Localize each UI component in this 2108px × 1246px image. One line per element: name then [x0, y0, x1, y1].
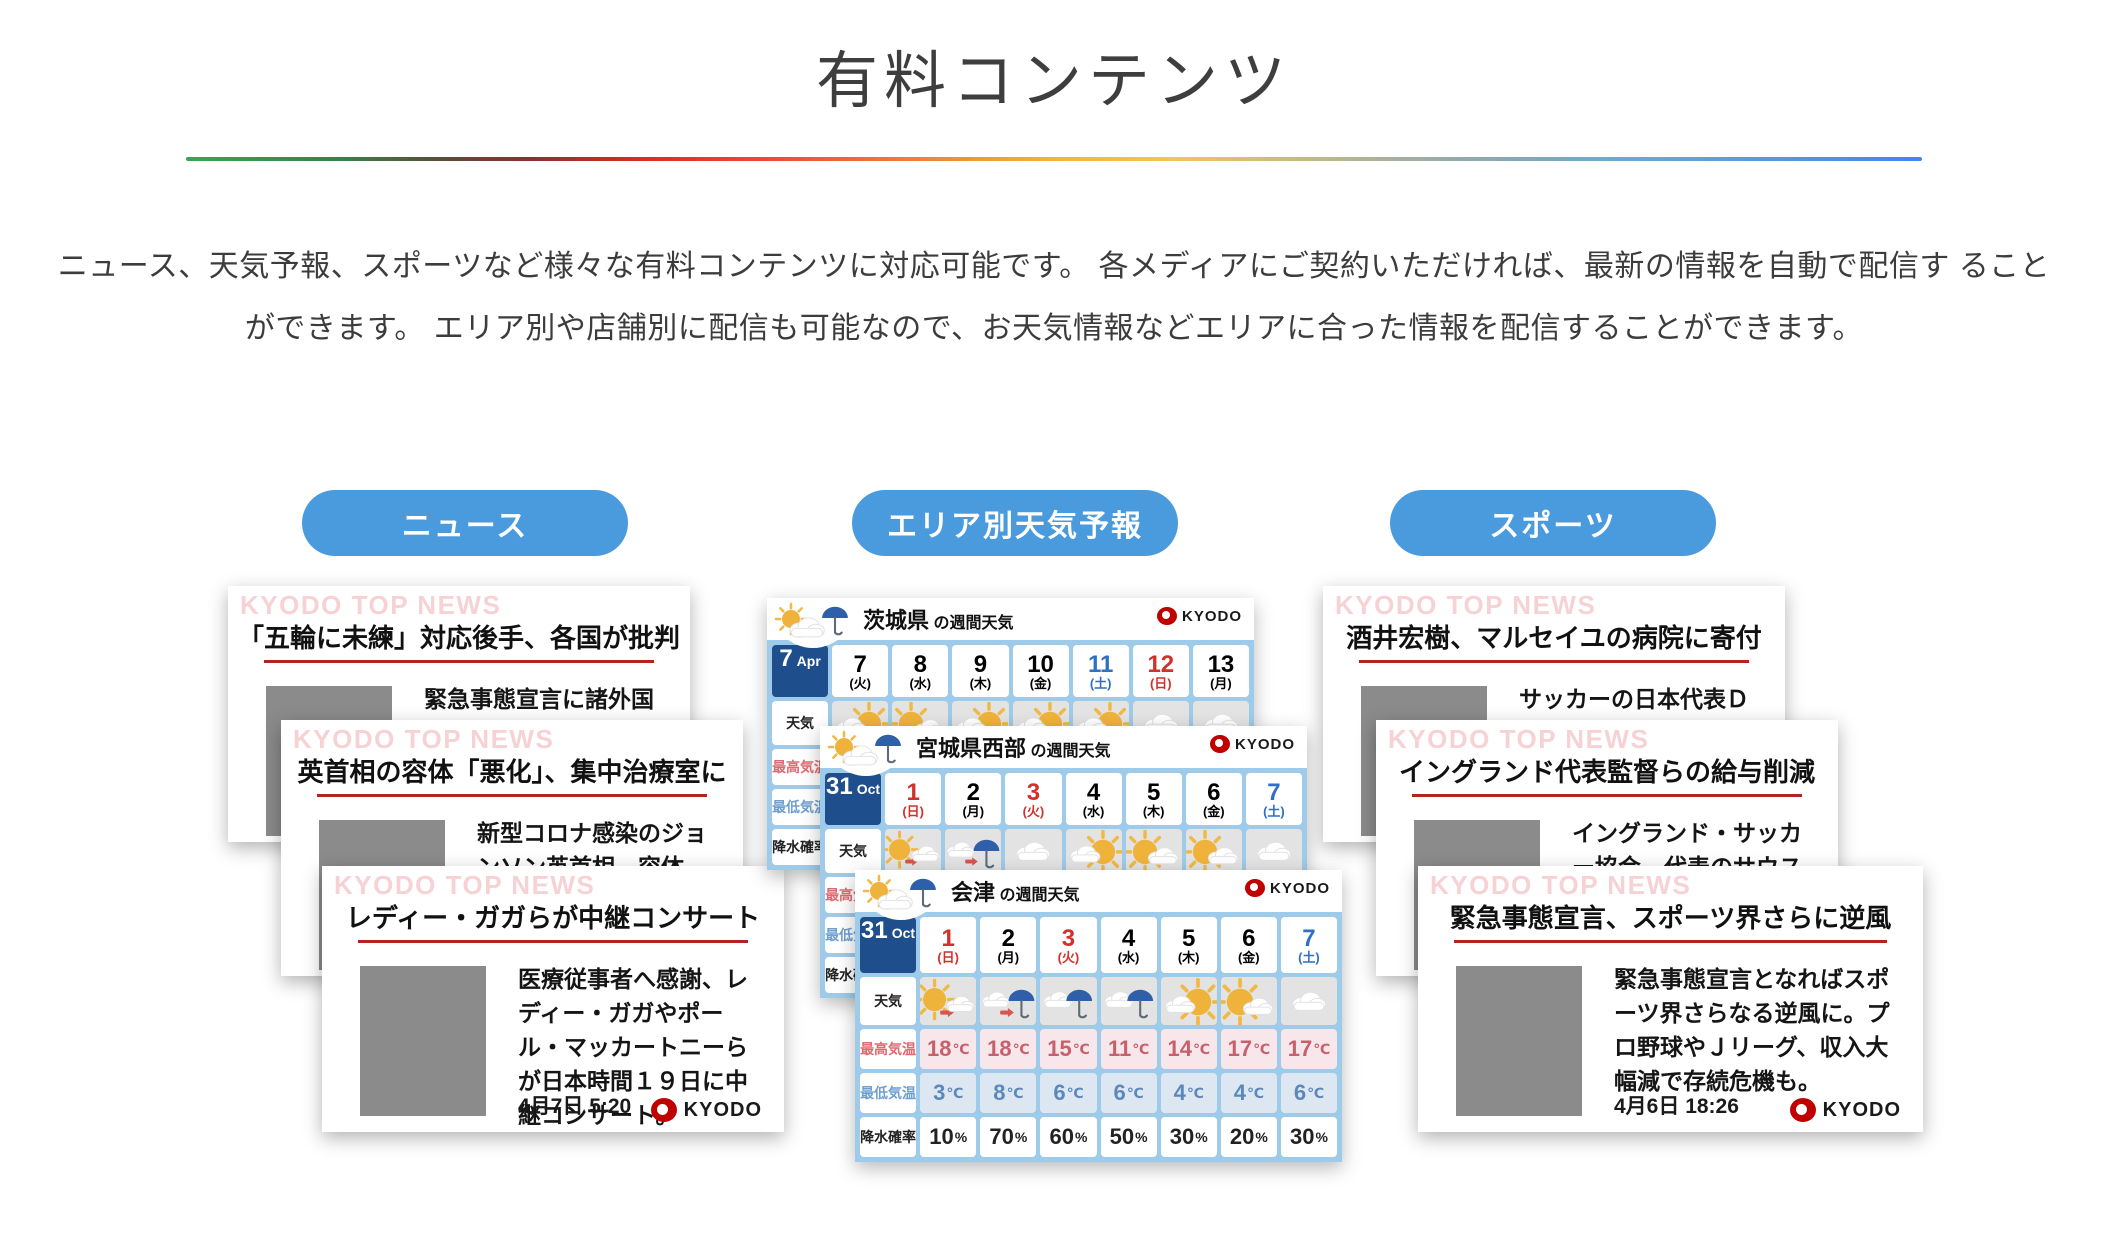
weather-day-header: 6(金) [1186, 773, 1242, 825]
weather-day-weekday: (月) [997, 951, 1019, 965]
kyodo-logo: KYODO [1210, 735, 1295, 753]
weather-condition-icon [1246, 829, 1302, 873]
kyodo-logo-text: KYODO [684, 1099, 762, 1122]
weather-day-column: 5(木)14℃4℃30% [1161, 917, 1217, 1157]
weather-day-weekday: (火) [849, 677, 871, 691]
weather-day-number: 6 [1242, 926, 1255, 951]
weather-min-temp: 4℃ [1161, 1073, 1217, 1113]
weather-condition-icon [920, 977, 976, 1025]
weather-min-temp: 3℃ [920, 1073, 976, 1113]
weather-day-header: 2(月) [945, 773, 1001, 825]
kyodo-top-news-label: KYODO TOP NEWS [1388, 724, 1649, 755]
weather-area-title: 宮城県西部 の週間天気 [916, 731, 1110, 763]
weather-day-weekday: (土) [1090, 677, 1112, 691]
weather-day-weekday: (金) [1030, 677, 1052, 691]
weather-day-number: 9 [974, 652, 987, 677]
weather-day-number: 1 [942, 926, 955, 951]
weather-condition-icon [1005, 829, 1061, 873]
news-headline: レディー・ガガらが中継コンサート [322, 898, 784, 935]
weather-day-number: 2 [967, 780, 980, 805]
weather-day-number: 3 [1027, 780, 1040, 805]
kyodo-mark-icon [1157, 607, 1177, 625]
kyodo-logo: KYODO [651, 1098, 762, 1122]
weather-day-weekday: (日) [1150, 677, 1172, 691]
weather-day-header: 1(日) [885, 773, 941, 825]
row-label-max-temp: 最高気温 [860, 1029, 916, 1069]
kyodo-logo: KYODO [1245, 879, 1330, 897]
weather-date-day: 7 [779, 645, 792, 673]
weather-day-weekday: (木) [970, 677, 992, 691]
weather-day-header: 4(水) [1066, 773, 1122, 825]
weather-day-column: 3(火)15℃6℃60% [1040, 917, 1096, 1157]
weather-area-title: 茨城県 の週間天気 [863, 603, 1013, 635]
headline-rule [317, 794, 707, 797]
weather-date-badge: 7Apr [772, 645, 828, 697]
intro-paragraph: ニュース、天気予報、スポーツなど様々な有料コンテンツに対応可能です。 各メディア… [44, 236, 2064, 360]
weather-day-column: 7(土)17℃6℃30% [1281, 917, 1337, 1157]
row-label-weather: 天気 [860, 977, 916, 1025]
weather-day-header: 5(木) [1126, 773, 1182, 825]
news-thumbnail [1456, 966, 1582, 1116]
weather-day-header: 7(土) [1246, 773, 1302, 825]
weather-card-header: 会津 の週間天気KYODO [855, 870, 1342, 912]
weather-day-column: 6(金)17℃4℃20% [1221, 917, 1277, 1157]
weather-date-day: 31 [826, 773, 853, 801]
headline-rule [264, 660, 654, 663]
weather-date-badge: 31Oct [825, 773, 881, 825]
weather-precipitation: 10% [920, 1117, 976, 1157]
weather-day-header: 1(日) [920, 917, 976, 973]
weather-day-weekday: (木) [1143, 805, 1165, 819]
headline-rule [1412, 794, 1802, 797]
weather-day-weekday: (木) [1178, 951, 1200, 965]
headline-rule [358, 940, 748, 943]
weather-title-suffix: の週間天気 [1026, 743, 1110, 760]
weather-max-temp: 15℃ [1040, 1029, 1096, 1069]
weather-day-number: 1 [907, 780, 920, 805]
news-headline: 酒井宏樹、マルセイユの病院に寄付 [1323, 618, 1785, 655]
news-timestamp: 4月6日 18:26 [1614, 1090, 1739, 1120]
weather-day-weekday: (火) [1023, 805, 1045, 819]
news-thumbnail [360, 966, 486, 1116]
news-card[interactable]: KYODO TOP NEWSレディー・ガガらが中継コンサート医療従事者へ感謝、レ… [322, 866, 784, 1132]
weather-condition-icon [885, 829, 941, 873]
slide-root: 有料コンテンツ ニュース、天気予報、スポーツなど様々な有料コンテンツに対応可能で… [0, 0, 2108, 1246]
weather-summary-icon [771, 600, 855, 648]
kyodo-logo-text: KYODO [1235, 736, 1295, 753]
weather-day-header: 7(土) [1281, 917, 1337, 973]
weather-day-header: 7(火) [832, 645, 888, 697]
weather-date-month: Oct [892, 925, 915, 941]
weather-condition-icon [1186, 829, 1242, 873]
weather-day-weekday: (水) [1118, 951, 1140, 965]
weather-day-header: 10(金) [1013, 645, 1069, 697]
weather-day-number: 5 [1147, 780, 1160, 805]
weather-card-header: 茨城県 の週間天気KYODO [767, 598, 1254, 640]
weather-day-weekday: (日) [937, 951, 959, 965]
section-button-news[interactable]: ニュース [302, 490, 628, 556]
weather-day-number: 10 [1027, 652, 1054, 677]
kyodo-top-news-label: KYODO TOP NEWS [293, 724, 554, 755]
kyodo-top-news-label: KYODO TOP NEWS [1335, 590, 1596, 621]
weather-day-weekday: (金) [1238, 951, 1260, 965]
row-label-weather: 天気 [825, 829, 881, 873]
weather-day-column: 1(日)18℃3℃10% [920, 917, 976, 1157]
weather-min-temp: 6℃ [1281, 1073, 1337, 1113]
kyodo-top-news-label: KYODO TOP NEWS [1430, 870, 1691, 901]
weather-card-header: 宮城県西部 の週間天気KYODO [820, 726, 1307, 768]
weather-row-labels: 31Oct天気最高気温最低気温降水確率 [860, 917, 916, 1157]
weather-min-temp: 4℃ [1221, 1073, 1277, 1113]
weather-day-weekday: (月) [1210, 677, 1232, 691]
weather-day-number: 7 [1267, 780, 1280, 805]
weather-min-temp: 6℃ [1040, 1073, 1096, 1113]
news-headline: 英首相の容体「悪化」、集中治療室に [281, 752, 743, 789]
kyodo-top-news-label: KYODO TOP NEWS [334, 870, 595, 901]
section-button-weather[interactable]: エリア別天気予報 [852, 490, 1178, 556]
weather-precipitation: 60% [1040, 1117, 1096, 1157]
weather-condition-icon [1066, 829, 1122, 873]
weather-day-number: 8 [914, 652, 927, 677]
weather-day-weekday: (月) [962, 805, 984, 819]
news-card[interactable]: KYODO TOP NEWS緊急事態宣言、スポーツ界さらに逆風緊急事態宣言となれ… [1418, 866, 1923, 1132]
news-headline: イングランド代表監督らの給与削減 [1376, 752, 1838, 789]
intro-line-1: ニュース、天気予報、スポーツなど様々な有料コンテンツに対応可能です。 各メディア… [58, 250, 1950, 283]
kyodo-logo: KYODO [1157, 607, 1242, 625]
weather-day-number: 6 [1207, 780, 1220, 805]
kyodo-logo-text: KYODO [1182, 608, 1242, 625]
weather-day-number: 7 [1302, 926, 1315, 951]
weather-max-temp: 14℃ [1161, 1029, 1217, 1069]
weather-day-header: 3(火) [1005, 773, 1061, 825]
weather-day-header: 11(土) [1073, 645, 1129, 697]
weather-precipitation: 30% [1161, 1117, 1217, 1157]
weather-precipitation: 70% [980, 1117, 1036, 1157]
weather-max-temp: 11℃ [1101, 1029, 1157, 1069]
weather-condition-icon [1221, 977, 1277, 1025]
weather-day-header: 8(水) [892, 645, 948, 697]
weather-date-day: 31 [861, 917, 888, 945]
row-label-precipitation: 降水確率 [860, 1117, 916, 1157]
weather-min-temp: 8℃ [980, 1073, 1036, 1113]
weather-day-weekday: (土) [1263, 805, 1285, 819]
weather-max-temp: 18℃ [920, 1029, 976, 1069]
weather-max-temp: 17℃ [1221, 1029, 1277, 1069]
weather-day-number: 13 [1208, 652, 1235, 677]
weather-precipitation: 50% [1101, 1117, 1157, 1157]
kyodo-mark-icon [1210, 735, 1230, 753]
weather-day-number: 4 [1122, 926, 1135, 951]
weather-day-header: 3(火) [1040, 917, 1096, 973]
weather-area-title: 会津 の週間天気 [951, 875, 1079, 907]
weather-precipitation: 30% [1281, 1117, 1337, 1157]
row-label-min-temp: 最低気温 [860, 1073, 916, 1113]
kyodo-logo: KYODO [1790, 1098, 1901, 1122]
weather-condition-icon [1040, 977, 1096, 1025]
weather-day-header: 4(水) [1101, 917, 1157, 973]
headline-rule [1359, 660, 1749, 663]
weather-precipitation: 20% [1221, 1117, 1277, 1157]
weather-day-column: 2(月)18℃8℃70% [980, 917, 1036, 1157]
weather-condition-icon [980, 977, 1036, 1025]
kyodo-mark-icon [1245, 879, 1265, 897]
news-headline: 「五輪に未練」対応後手、各国が批判 [228, 618, 690, 655]
gradient-divider [186, 157, 1922, 161]
weather-summary-icon [859, 872, 943, 920]
weather-condition-icon [1281, 977, 1337, 1025]
weather-date-badge: 31Oct [860, 917, 916, 973]
weather-day-weekday: (日) [902, 805, 924, 819]
weather-day-weekday: (水) [1083, 805, 1105, 819]
weather-day-number: 12 [1147, 652, 1174, 677]
headline-rule [1454, 940, 1887, 943]
news-headline: 緊急事態宣言、スポーツ界さらに逆風 [1418, 898, 1923, 935]
weather-day-number: 2 [1002, 926, 1015, 951]
weather-summary-icon [824, 728, 908, 776]
weather-day-number: 4 [1087, 780, 1100, 805]
weather-max-temp: 17℃ [1281, 1029, 1337, 1069]
weather-condition-icon [1161, 977, 1217, 1025]
weather-condition-icon [945, 829, 1001, 873]
weather-day-header: 12(日) [1133, 645, 1189, 697]
weather-day-weekday: (火) [1058, 951, 1080, 965]
weather-day-weekday: (水) [909, 677, 931, 691]
weather-day-header: 6(金) [1221, 917, 1277, 973]
weather-day-number: 7 [854, 652, 867, 677]
weather-grid: 31Oct天気最高気温最低気温降水確率1(日)18℃3℃10%2(月)18℃8℃… [855, 912, 1342, 1162]
weather-day-header: 13(月) [1193, 645, 1249, 697]
section-button-sports[interactable]: スポーツ [1390, 490, 1716, 556]
weather-day-weekday: (土) [1298, 951, 1320, 965]
kyodo-mark-icon [1790, 1098, 1816, 1122]
weather-min-temp: 6℃ [1101, 1073, 1157, 1113]
kyodo-mark-icon [651, 1098, 677, 1122]
weather-day-header: 2(月) [980, 917, 1036, 973]
news-timestamp: 4月7日 5:20 [518, 1090, 631, 1120]
weather-day-column: 4(水)11℃6℃50% [1101, 917, 1157, 1157]
weather-title-suffix: の週間天気 [929, 615, 1013, 632]
kyodo-logo-text: KYODO [1823, 1099, 1901, 1122]
weather-day-header: 9(木) [952, 645, 1008, 697]
weather-title-suffix: の週間天気 [995, 887, 1079, 904]
weather-day-number: 11 [1088, 652, 1113, 677]
news-body: 緊急事態宣言となればスポーツ界さらなる逆風に。プロ野球やＪリーグ、収入大幅減で存… [1614, 962, 1905, 1098]
weather-date-month: Apr [797, 653, 821, 669]
weather-day-header: 5(木) [1161, 917, 1217, 973]
weather-condition-icon [1101, 977, 1157, 1025]
weather-day-weekday: (金) [1203, 805, 1225, 819]
weather-max-temp: 18℃ [980, 1029, 1036, 1069]
weather-date-month: Oct [857, 781, 880, 797]
weather-card[interactable]: 会津 の週間天気KYODO31Oct天気最高気温最低気温降水確率1(日)18℃3… [855, 870, 1342, 1162]
kyodo-top-news-label: KYODO TOP NEWS [240, 590, 501, 621]
kyodo-logo-text: KYODO [1270, 880, 1330, 897]
page-title: 有料コンテンツ [0, 30, 2108, 120]
weather-day-number: 5 [1182, 926, 1195, 951]
weather-day-number: 3 [1062, 926, 1075, 951]
weather-condition-icon [1126, 829, 1182, 873]
